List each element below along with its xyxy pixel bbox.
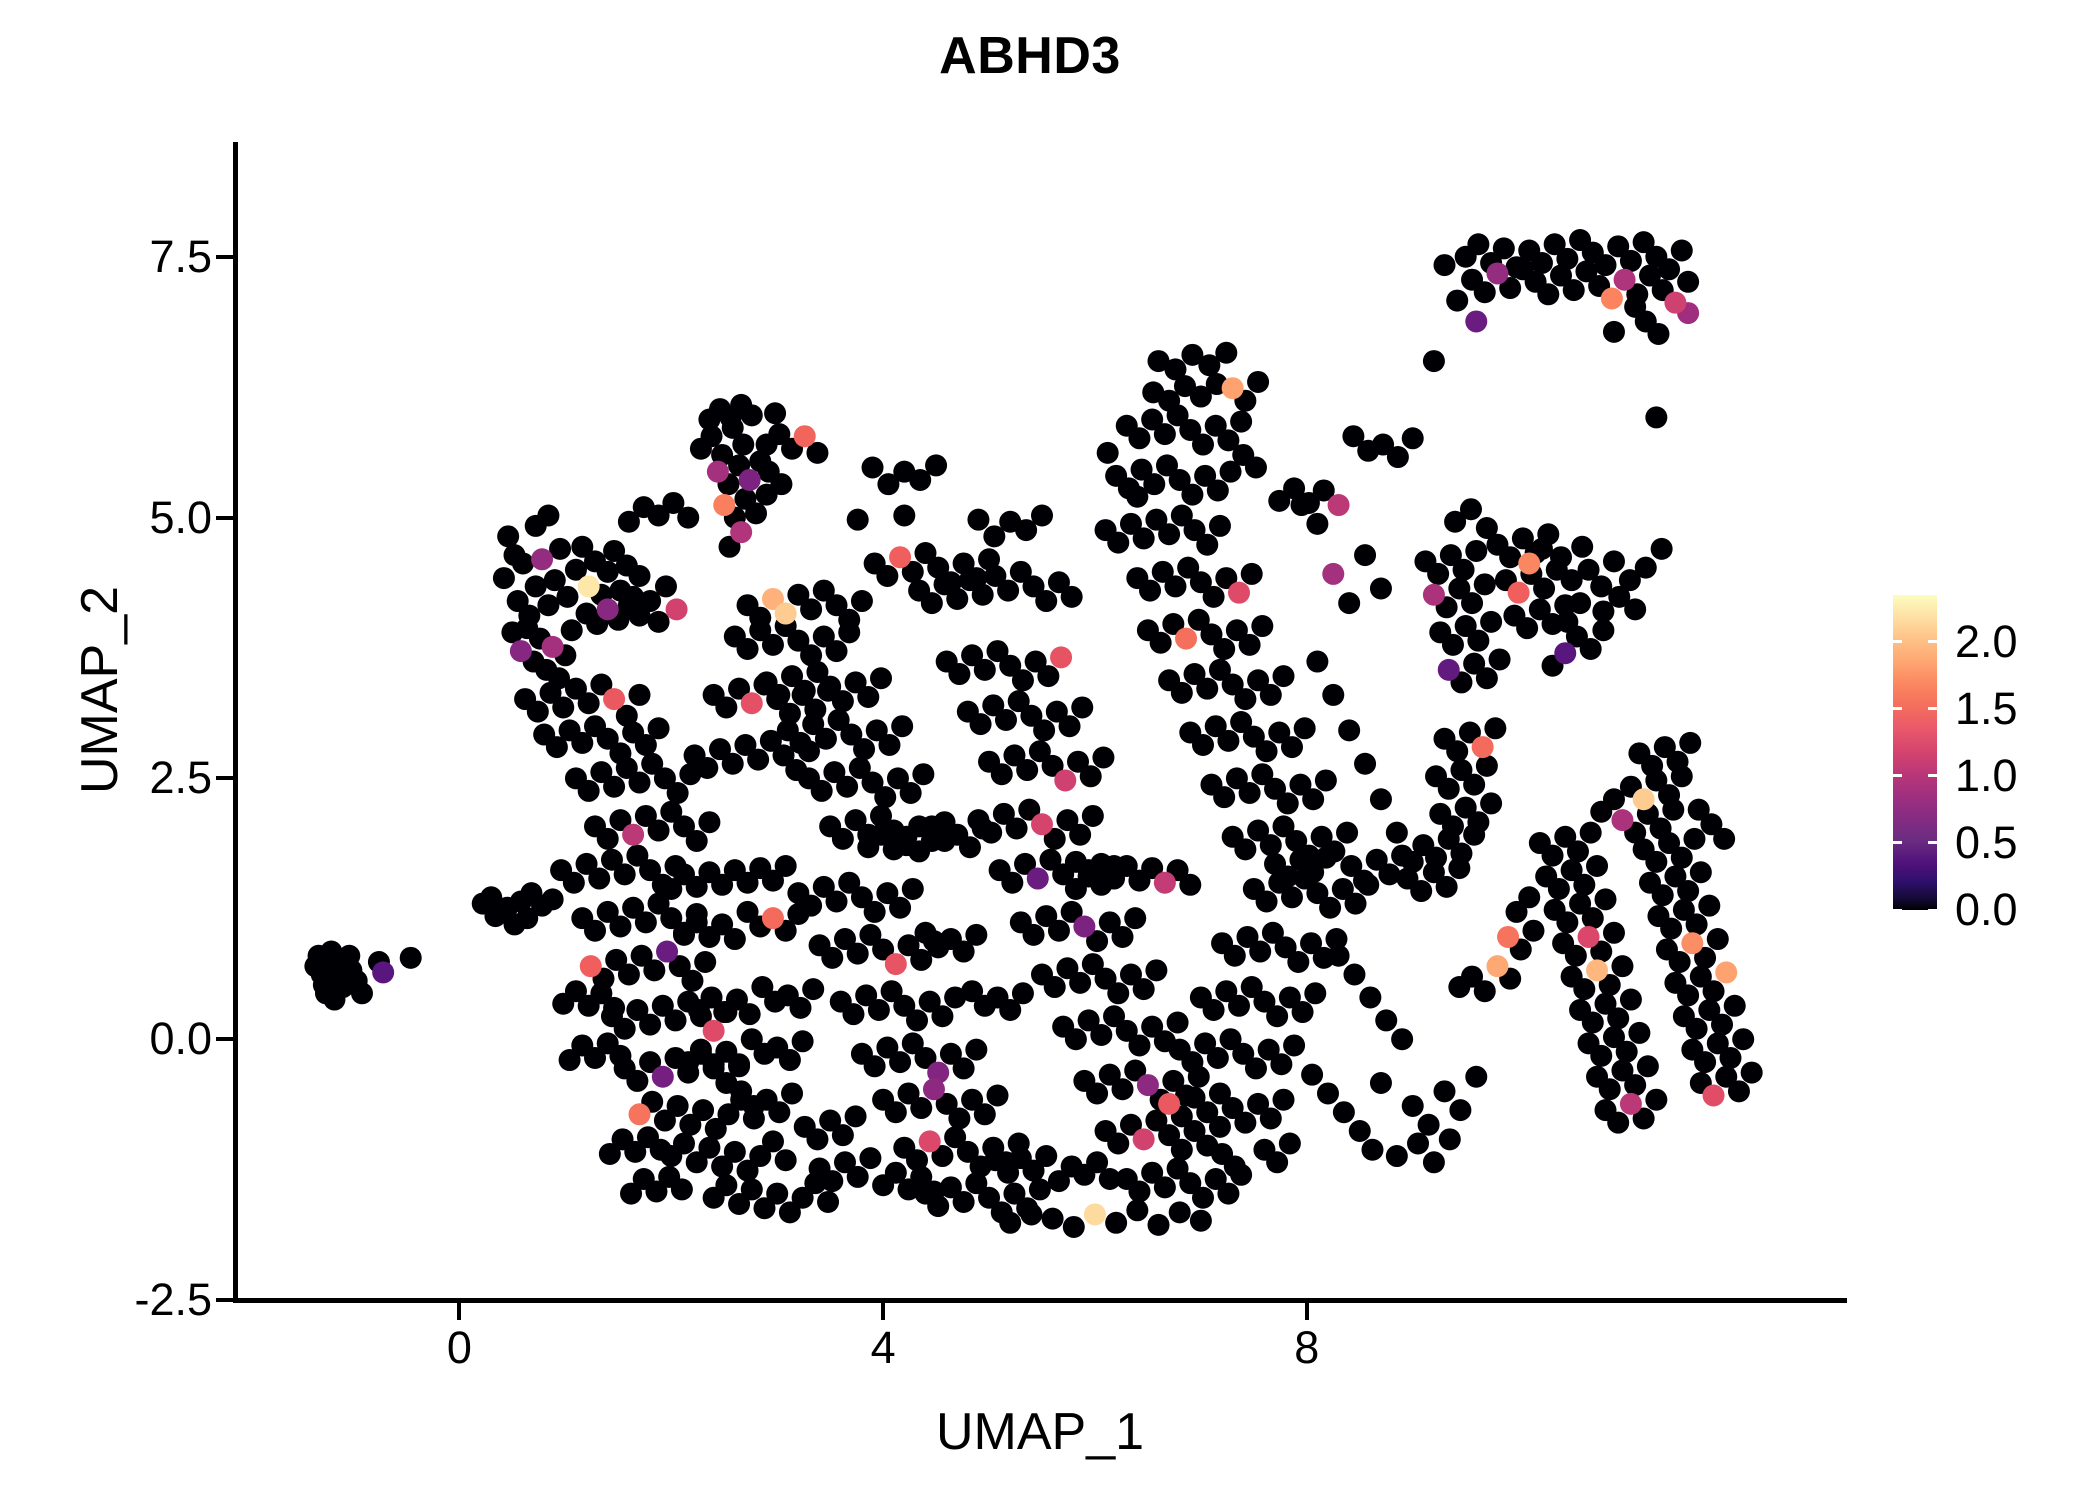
scatter-point	[1436, 876, 1458, 898]
scatter-point	[1645, 851, 1667, 873]
scatter-point	[1035, 590, 1057, 612]
scatter-point	[821, 1170, 843, 1192]
colorbar-tick-label: 0.5	[1955, 817, 2018, 869]
scatter-point	[1247, 371, 1269, 393]
scatter-point	[885, 953, 907, 975]
scatter-point	[1474, 573, 1496, 595]
scatter-point	[1573, 874, 1595, 896]
scatter-point	[1556, 911, 1578, 933]
scatter-point	[484, 905, 506, 927]
scatter-point	[737, 638, 759, 660]
scatter-point	[832, 1124, 854, 1146]
scatter-point	[1378, 863, 1400, 885]
scatter-point	[1698, 895, 1720, 917]
scatter-point	[948, 1107, 970, 1129]
y-tick-label: -2.5	[134, 1274, 212, 1326]
scatter-point	[655, 575, 677, 597]
scatter-point	[921, 815, 943, 837]
scatter-point	[806, 1128, 828, 1150]
scatter-point	[1647, 323, 1669, 345]
scatter-point	[1192, 734, 1214, 756]
scatter-point	[1480, 611, 1502, 633]
scatter-point	[1474, 281, 1496, 303]
scatter-point	[504, 544, 526, 566]
scatter-point	[1175, 628, 1197, 650]
scatter-point	[1128, 1181, 1150, 1203]
scatter-point	[1607, 1007, 1629, 1029]
scatter-point	[1489, 648, 1511, 670]
scatter-point	[1686, 1018, 1708, 1040]
y-tick-mark	[216, 1037, 233, 1041]
x-tick-mark	[881, 1303, 885, 1320]
scatter-point	[1306, 651, 1328, 673]
scatter-point	[741, 1028, 763, 1050]
scatter-point	[1082, 805, 1104, 827]
scatter-point	[584, 920, 606, 942]
scatter-point	[836, 776, 858, 798]
y-tick-label: 2.5	[149, 752, 212, 804]
scatter-point	[1624, 598, 1646, 620]
scatter-point	[1493, 237, 1515, 259]
scatter-point	[948, 663, 970, 685]
scatter-point	[1171, 682, 1193, 704]
scatter-point	[766, 1183, 788, 1205]
scatter-point	[1287, 951, 1309, 973]
scatter-point	[1472, 736, 1494, 758]
scatter-point	[1476, 667, 1498, 689]
scatter-point	[876, 565, 898, 587]
scatter-point	[1016, 759, 1038, 781]
scatter-point	[1658, 258, 1680, 280]
scatter-point	[1349, 1120, 1371, 1142]
scatter-point	[1234, 838, 1256, 860]
scatter-point	[902, 878, 924, 900]
scatter-point	[673, 924, 695, 946]
scatter-point	[698, 1137, 720, 1159]
scatter-point	[1542, 845, 1564, 867]
scatter-point	[1338, 719, 1360, 741]
scatter-point	[351, 982, 373, 1004]
scatter-point	[764, 402, 786, 424]
scatter-point	[1465, 310, 1487, 332]
scatter-point	[1711, 1014, 1733, 1036]
scatter-point	[542, 888, 564, 910]
scatter-point	[1460, 498, 1482, 520]
scatter-point	[1439, 1128, 1461, 1150]
scatter-point	[648, 611, 670, 633]
scatter-point	[1213, 638, 1235, 660]
scatter-point	[1652, 884, 1674, 906]
scatter-point	[1611, 955, 1633, 977]
scatter-point	[552, 993, 574, 1015]
scatter-point	[1624, 1074, 1646, 1096]
scatter-point	[1448, 976, 1470, 998]
scatter-point	[853, 738, 875, 760]
scatter-point	[1169, 1201, 1191, 1223]
scatter-point	[1239, 782, 1261, 804]
scatter-point	[1128, 1034, 1150, 1056]
scatter-point	[1569, 592, 1591, 614]
scatter-point	[1044, 976, 1066, 998]
scatter-point	[667, 782, 689, 804]
scatter-point	[542, 636, 564, 658]
scatter-point	[1573, 978, 1595, 1000]
scatter-point	[874, 786, 896, 808]
colorbar-tick-mark	[1928, 841, 1937, 844]
scatter-point	[1196, 1101, 1218, 1123]
scatter-point	[889, 1051, 911, 1073]
scatter-point	[730, 521, 752, 543]
plot-panel	[237, 142, 1847, 1300]
scatter-point	[868, 999, 890, 1021]
x-tick-label: 0	[447, 1322, 472, 1374]
scatter-point	[997, 580, 1019, 602]
scatter-point	[811, 780, 833, 802]
scatter-point	[775, 855, 797, 877]
scatter-point	[1537, 283, 1559, 305]
scatter-point	[1234, 688, 1256, 710]
scatter-point	[1633, 788, 1655, 810]
scatter-point	[1322, 563, 1344, 585]
scatter-point	[1234, 1112, 1256, 1134]
scatter-point	[556, 586, 578, 608]
scatter-point	[1522, 920, 1544, 942]
scatter-point	[900, 782, 922, 804]
scatter-point	[1069, 824, 1091, 846]
scatter-point	[859, 1147, 881, 1169]
scatter-point	[1023, 924, 1045, 946]
x-axis-title: UMAP_1	[233, 1402, 1847, 1462]
scatter-point	[1154, 872, 1176, 894]
scatter-point	[1571, 536, 1593, 558]
scatter-point	[1336, 822, 1358, 844]
colorbar-tick-label: 1.0	[1955, 750, 2018, 802]
scatter-point	[1449, 1099, 1471, 1121]
scatter-point	[864, 901, 886, 923]
scatter-point	[1499, 546, 1521, 568]
scatter-point	[1304, 982, 1326, 1004]
colorbar-tick-mark	[1928, 640, 1937, 643]
scatter-point	[1448, 857, 1470, 879]
scatter-point	[1518, 552, 1540, 574]
scatter-point	[1423, 584, 1445, 606]
scatter-point	[1192, 434, 1214, 456]
scatter-point	[832, 828, 854, 850]
scatter-point	[1679, 732, 1701, 754]
scatter-point	[794, 680, 816, 702]
scatter-point	[1353, 870, 1375, 892]
scatter-point	[1294, 717, 1316, 739]
scatter-point	[921, 592, 943, 614]
scatter-point	[1616, 1041, 1638, 1063]
scatter-point	[889, 546, 911, 568]
scatter-point	[1586, 855, 1608, 877]
scatter-point	[745, 502, 767, 524]
scatter-point	[1578, 926, 1600, 948]
scatter-point	[1328, 494, 1350, 516]
scatter-point	[629, 772, 651, 794]
scatter-point	[1582, 907, 1604, 929]
scatter-point	[1099, 1168, 1121, 1190]
scatter-point	[1048, 1170, 1070, 1192]
scatter-point	[1001, 872, 1023, 894]
scatter-point	[1239, 634, 1261, 656]
scatter-point	[1277, 792, 1299, 814]
scatter-point	[1410, 880, 1432, 902]
x-tick-label: 4	[871, 1322, 896, 1374]
scatter-svg	[237, 142, 1847, 1300]
scatter-point	[877, 473, 899, 495]
scatter-point	[1650, 817, 1672, 839]
scatter-point	[1027, 868, 1049, 890]
scatter-point	[857, 836, 879, 858]
scatter-point	[1423, 350, 1445, 372]
scatter-point	[707, 461, 729, 483]
scatter-point	[1029, 1178, 1051, 1200]
scatter-point	[648, 820, 670, 842]
scatter-point	[648, 717, 670, 739]
scatter-point	[1037, 665, 1059, 687]
scatter-point	[537, 504, 559, 526]
scatter-point	[847, 1166, 869, 1188]
scatter-point	[1565, 945, 1587, 967]
scatter-point	[838, 621, 860, 643]
scatter-point	[1667, 751, 1689, 773]
scatter-point	[1090, 1024, 1112, 1046]
scatter-point	[715, 696, 737, 718]
scatter-point	[1508, 582, 1530, 604]
scatter-point	[1245, 456, 1267, 478]
scatter-point	[578, 780, 600, 802]
scatter-point	[1590, 1045, 1612, 1067]
scatter-point	[1222, 377, 1244, 399]
scatter-point	[826, 640, 848, 662]
scatter-point	[1467, 630, 1489, 652]
scatter-point	[1006, 817, 1028, 839]
scatter-point	[1207, 479, 1229, 501]
scatter-point	[1516, 617, 1538, 639]
scatter-point	[1065, 851, 1087, 873]
scatter-point	[1301, 1064, 1323, 1086]
scatter-point	[578, 692, 600, 714]
scatter-point	[1338, 592, 1360, 614]
scatter-point	[614, 1018, 636, 1040]
scatter-point	[1628, 1022, 1650, 1044]
colorbar-tick-mark	[1893, 640, 1902, 643]
scatter-point	[1181, 1051, 1203, 1073]
scatter-point	[1107, 1133, 1129, 1155]
scatter-point	[893, 504, 915, 526]
scatter-point	[1273, 1089, 1295, 1111]
scatter-point	[1486, 955, 1508, 977]
scatter-point	[931, 1005, 953, 1027]
scatter-point	[673, 1133, 695, 1155]
y-tick-mark	[216, 1298, 233, 1302]
scatter-point	[1677, 880, 1699, 902]
scatter-point	[1669, 951, 1691, 973]
scatter-point	[722, 753, 744, 775]
scatter-point	[1084, 1203, 1106, 1225]
scatter-point	[1719, 1047, 1741, 1069]
scatter-point	[1069, 972, 1091, 994]
scatter-point	[629, 684, 651, 706]
scatter-point	[1370, 1072, 1392, 1094]
colorbar-tick-mark	[1928, 707, 1937, 710]
scatter-point	[815, 728, 837, 750]
scatter-point	[787, 903, 809, 925]
scatter-point	[1386, 1145, 1408, 1167]
scatter-point	[1423, 1151, 1445, 1173]
scatter-point	[1012, 669, 1034, 691]
scatter-point	[768, 684, 790, 706]
scatter-point	[768, 1101, 790, 1123]
x-tick-mark	[457, 1303, 461, 1320]
scatter-point	[1361, 1139, 1383, 1161]
scatter-point	[790, 732, 812, 754]
scatter-point	[715, 1174, 737, 1196]
scatter-point	[984, 1149, 1006, 1171]
scatter-point	[1580, 822, 1602, 844]
y-tick-label: 0.0	[149, 1013, 212, 1065]
scatter-point	[923, 1181, 945, 1203]
scatter-point	[1402, 427, 1424, 449]
scatter-point	[953, 1057, 975, 1079]
scatter-point	[1031, 813, 1053, 835]
scatter-point	[1196, 534, 1218, 556]
scatter-point	[1302, 788, 1324, 810]
scatter-point	[832, 690, 854, 712]
scatter-point	[1137, 1074, 1159, 1096]
scatter-point	[751, 976, 773, 998]
scatter-point	[906, 1009, 928, 1031]
scatter-point	[665, 1009, 687, 1031]
scatter-point	[1391, 845, 1413, 867]
scatter-point	[580, 955, 602, 977]
scatter-point	[1145, 959, 1167, 981]
scatter-point	[1434, 1080, 1456, 1102]
scatter-point	[995, 709, 1017, 731]
page-title: ABHD3	[0, 28, 2060, 85]
scatter-point	[817, 1191, 839, 1213]
scatter-point	[1217, 730, 1239, 752]
scatter-point	[1578, 559, 1600, 581]
scatter-point	[531, 548, 553, 570]
scatter-point	[1354, 753, 1376, 775]
scatter-point	[1133, 978, 1155, 1000]
scatter-point	[1671, 847, 1693, 869]
scatter-point	[1465, 1066, 1487, 1088]
scatter-point	[1203, 999, 1225, 1021]
scatter-point	[1427, 563, 1449, 585]
scatter-point	[1690, 861, 1712, 883]
scatter-point	[1677, 984, 1699, 1006]
scatter-point	[629, 1103, 651, 1125]
scatter-point	[1637, 1055, 1659, 1077]
scatter-point	[1148, 1214, 1170, 1236]
legend-colorbar: 0.00.51.01.52.0	[1893, 560, 2093, 960]
scatter-point	[1595, 888, 1617, 910]
scatter-point	[983, 525, 1005, 547]
x-tick-label: 8	[1294, 1322, 1319, 1374]
scatter-point	[1601, 287, 1623, 309]
scatter-point	[870, 667, 892, 689]
scatter-point	[878, 734, 900, 756]
scatter-point	[1241, 563, 1263, 585]
scatter-point	[1402, 1095, 1424, 1117]
scatter-point	[561, 619, 583, 641]
scatter-point	[1158, 523, 1180, 545]
scatter-point	[1230, 411, 1252, 433]
scatter-point	[1281, 886, 1303, 908]
scatter-point	[914, 922, 936, 944]
scatter-point	[1732, 1028, 1754, 1050]
scatter-point	[919, 1130, 941, 1152]
scatter-point	[1442, 634, 1464, 656]
scatter-point	[525, 575, 547, 597]
scatter-point	[694, 951, 716, 973]
scatter-point	[987, 1085, 1009, 1107]
scatter-point	[400, 947, 422, 969]
scatter-point	[698, 811, 720, 833]
scatter-point	[1592, 619, 1614, 641]
scatter-points-layer	[237, 142, 1847, 1300]
scatter-point	[1741, 1062, 1763, 1084]
scatter-point	[686, 830, 708, 852]
scatter-point	[1209, 515, 1231, 537]
scatter-point	[739, 469, 761, 491]
y-tick-mark	[216, 255, 233, 259]
colorbar-tick-mark	[1893, 909, 1902, 912]
scatter-point	[1107, 982, 1129, 1004]
colorbar-tick-mark	[1928, 774, 1937, 777]
scatter-point	[770, 473, 792, 495]
scatter-point	[1167, 1012, 1189, 1034]
scatter-point	[946, 588, 968, 610]
scatter-point	[842, 1003, 864, 1025]
y-tick-mark	[216, 516, 233, 520]
scatter-point	[1086, 1082, 1108, 1104]
y-tick-label: 5.0	[149, 492, 212, 544]
scatter-point	[974, 1103, 996, 1125]
scatter-point	[703, 1020, 725, 1042]
scatter-point	[1715, 961, 1737, 983]
scatter-point	[912, 763, 934, 785]
scatter-point	[1681, 932, 1703, 954]
scatter-point	[1260, 1107, 1282, 1129]
scatter-point	[864, 1055, 886, 1077]
scatter-point	[1112, 1078, 1134, 1100]
scatter-point	[1150, 632, 1172, 654]
scatter-point	[1370, 578, 1392, 600]
scatter-point	[1345, 893, 1367, 915]
scatter-point	[1620, 250, 1642, 272]
scatter-point	[1446, 290, 1468, 312]
scatter-point	[622, 824, 644, 846]
scatter-point	[1124, 907, 1146, 929]
scatter-point	[965, 1039, 987, 1061]
scatter-point	[1586, 959, 1608, 981]
scatter-point	[1133, 527, 1155, 549]
scatter-point	[1097, 442, 1119, 464]
scatter-point	[1624, 296, 1646, 318]
scatter-point	[1181, 484, 1203, 506]
umap-feature-plot: ABHD3 -2.50.02.55.07.5 048 UMAP_1 UMAP_2…	[0, 0, 2100, 1500]
scatter-point	[953, 1191, 975, 1213]
scatter-point	[652, 1066, 674, 1088]
scatter-point	[1713, 828, 1735, 850]
scatter-point	[970, 713, 992, 735]
scatter-point	[972, 584, 994, 606]
